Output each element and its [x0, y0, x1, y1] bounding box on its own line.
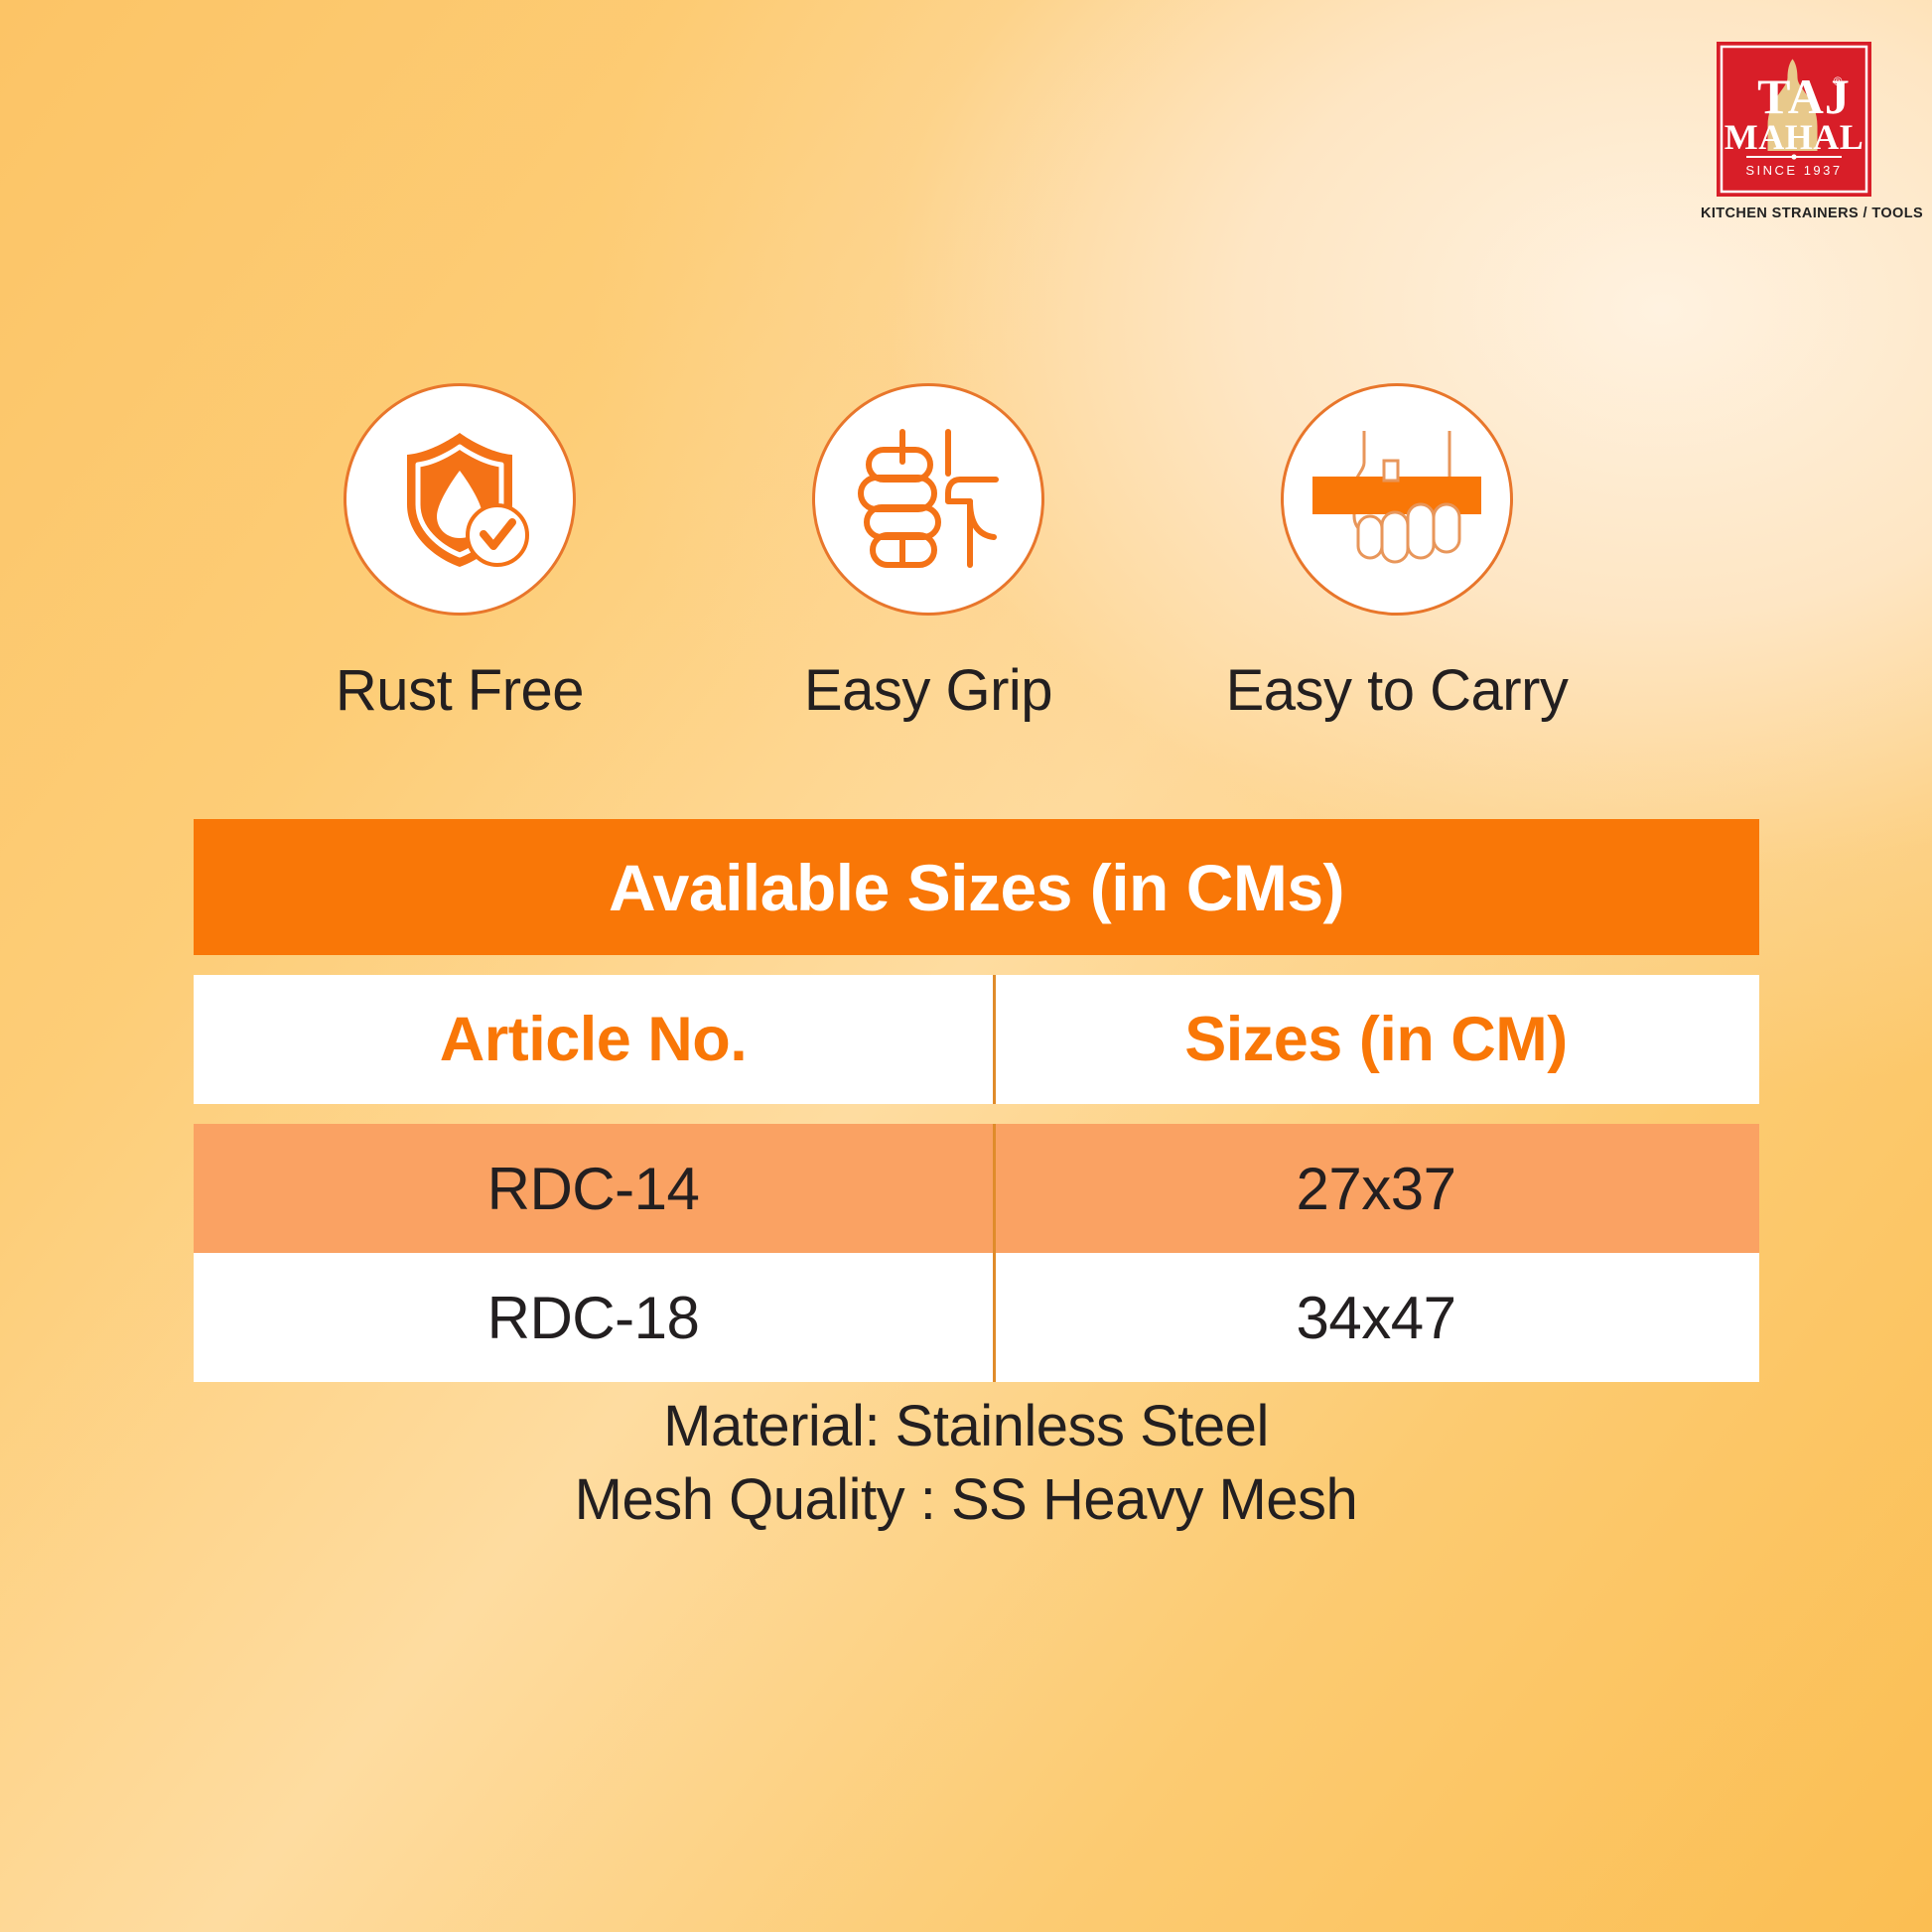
feature-label: Rust Free	[336, 657, 584, 724]
column-header-article: Article No.	[194, 975, 993, 1104]
table-row: RDC-14 27x37	[194, 1124, 1759, 1253]
svg-text:SINCE 1937: SINCE 1937	[1745, 163, 1842, 178]
hand-carry-handle-icon	[1312, 425, 1481, 574]
logo-badge: TAJ ® MAHAL SINCE 1937	[1717, 42, 1871, 197]
taj-mahal-dome-icon: TAJ ® MAHAL SINCE 1937	[1717, 42, 1871, 197]
feature-label: Easy Grip	[804, 657, 1052, 724]
column-divider	[993, 1253, 996, 1382]
cell-article-value: RDC-14	[487, 1155, 700, 1223]
cell-size: 34x47	[993, 1253, 1759, 1382]
product-infographic-poster: TAJ ® MAHAL SINCE 1937 KITCHEN STRAINERS…	[0, 0, 1932, 1932]
table-header-row: Article No. Sizes (in CM)	[194, 975, 1759, 1104]
note-material: Material: Stainless Steel	[0, 1390, 1932, 1463]
feature-label: Easy to Carry	[1226, 657, 1569, 724]
cell-size: 27x37	[993, 1124, 1759, 1253]
available-sizes-table: Available Sizes (in CMs) Article No. Siz…	[194, 819, 1759, 1382]
feature-icon-circle	[344, 383, 576, 616]
column-divider	[993, 975, 996, 1104]
table-title: Available Sizes (in CMs)	[194, 819, 1759, 955]
svg-text:MAHAL: MAHAL	[1725, 117, 1864, 157]
features-row: Rust Free	[268, 383, 1588, 724]
column-header-sizes: Sizes (in CM)	[993, 975, 1759, 1104]
brand-logo: TAJ ® MAHAL SINCE 1937 KITCHEN STRAINERS…	[1701, 42, 1887, 221]
product-notes: Material: Stainless Steel Mesh Quality :…	[0, 1390, 1932, 1537]
cell-article-no: RDC-18	[194, 1253, 993, 1382]
cell-size-value: 27x37	[1297, 1155, 1456, 1223]
cell-size-value: 34x47	[1297, 1284, 1456, 1352]
table-row: RDC-18 34x47	[194, 1253, 1759, 1382]
hand-grip-rod-icon	[853, 424, 1004, 575]
brand-caption: KITCHEN STRAINERS / TOOLS	[1701, 206, 1887, 221]
shield-droplet-check-icon	[385, 425, 534, 574]
cell-article-no: RDC-14	[194, 1124, 993, 1253]
feature-easy-to-carry: Easy to Carry	[1205, 383, 1588, 724]
table-spacer	[194, 955, 1759, 975]
column-header-sizes-label: Sizes (in CM)	[1184, 1004, 1568, 1075]
column-header-article-label: Article No.	[440, 1004, 748, 1075]
cell-article-value: RDC-18	[487, 1284, 700, 1352]
note-mesh-quality: Mesh Quality : SS Heavy Mesh	[0, 1463, 1932, 1537]
feature-icon-circle	[812, 383, 1044, 616]
feature-icon-circle	[1281, 383, 1513, 616]
column-divider	[993, 1124, 996, 1253]
feature-easy-grip: Easy Grip	[737, 383, 1120, 724]
svg-text:®: ®	[1834, 74, 1843, 88]
table-spacer	[194, 1104, 1759, 1124]
feature-rust-free: Rust Free	[268, 383, 651, 724]
